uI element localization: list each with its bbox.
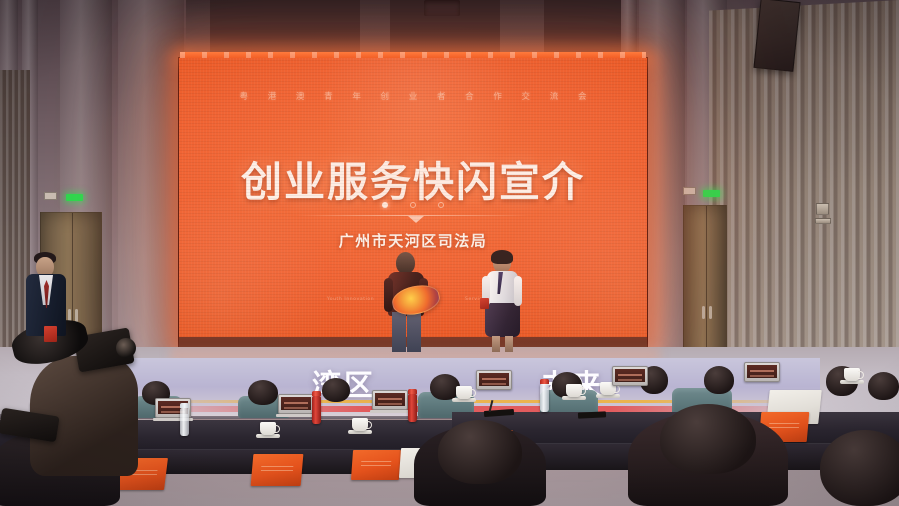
camera-lens xyxy=(116,338,136,358)
water-bottle[interactable] xyxy=(312,396,321,424)
nameplate xyxy=(744,362,780,382)
water-bottle[interactable] xyxy=(408,394,417,422)
white-mug[interactable] xyxy=(352,418,368,431)
audience-head xyxy=(248,380,278,405)
audience-head xyxy=(704,366,734,394)
pager-dot-inactive[interactable] xyxy=(410,202,416,208)
white-mug[interactable] xyxy=(566,384,582,397)
held-envelope xyxy=(44,326,57,342)
conference-hall-screenshot: 粤 港 澳 青 年 创 业 者 合 作 交 流 会 创业服务快闪宣介 广州市天河… xyxy=(0,0,899,506)
nameplate xyxy=(612,366,648,386)
audience-head xyxy=(322,378,350,402)
audience-head xyxy=(438,420,522,484)
line-array-speaker xyxy=(753,0,800,72)
slide-pager xyxy=(179,196,647,214)
held-card xyxy=(480,298,489,309)
wall-plate xyxy=(683,187,696,195)
pager-dot-inactive[interactable] xyxy=(438,202,444,208)
white-mug[interactable] xyxy=(844,368,860,381)
orange-folder[interactable] xyxy=(251,454,304,486)
wall-mounted-device xyxy=(816,203,829,215)
audience-head xyxy=(820,430,899,506)
white-mug[interactable] xyxy=(456,386,472,399)
ceiling-fixture xyxy=(424,0,460,16)
audience-head xyxy=(660,404,756,474)
presenter-female xyxy=(482,252,524,352)
water-bottle[interactable] xyxy=(540,384,549,412)
nameplate xyxy=(278,394,314,414)
audience-head xyxy=(868,372,899,400)
wall-mounted-bracket xyxy=(815,218,831,224)
white-mug[interactable] xyxy=(260,422,276,435)
exit-sign-icon xyxy=(66,194,83,201)
pager-dot-active[interactable] xyxy=(382,202,388,208)
slide-fine-print-left: Youth Innovation xyxy=(327,297,374,302)
exit-sign-icon xyxy=(703,190,720,197)
nameplate xyxy=(372,390,408,410)
slide-kicker: 粤 港 澳 青 年 创 业 者 合 作 交 流 会 xyxy=(179,90,647,102)
orange-folder[interactable] xyxy=(351,450,401,480)
nameplate xyxy=(476,370,512,390)
chevron-down-icon xyxy=(408,216,424,223)
water-bottle[interactable] xyxy=(180,408,189,436)
wall-plate xyxy=(44,192,57,200)
slide-organization: 广州市天河区司法局 xyxy=(179,230,647,251)
